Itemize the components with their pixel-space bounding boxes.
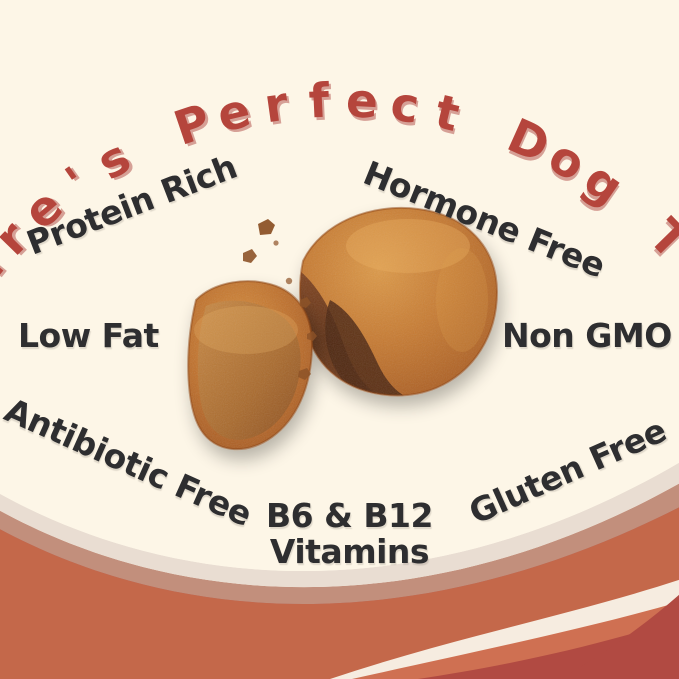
benefit-low-fat: Low Fat: [18, 318, 159, 354]
infographic-canvas: Nature's Perfect Dog Treat Protein RichH…: [0, 0, 679, 679]
vitamins-line-2: Vitamins: [266, 534, 433, 570]
vitamins-line-1: B6 & B12: [266, 498, 433, 534]
benefit-non-gmo: Non GMO: [502, 318, 672, 354]
benefit-vitamins: B6 & B12Vitamins: [266, 498, 433, 569]
